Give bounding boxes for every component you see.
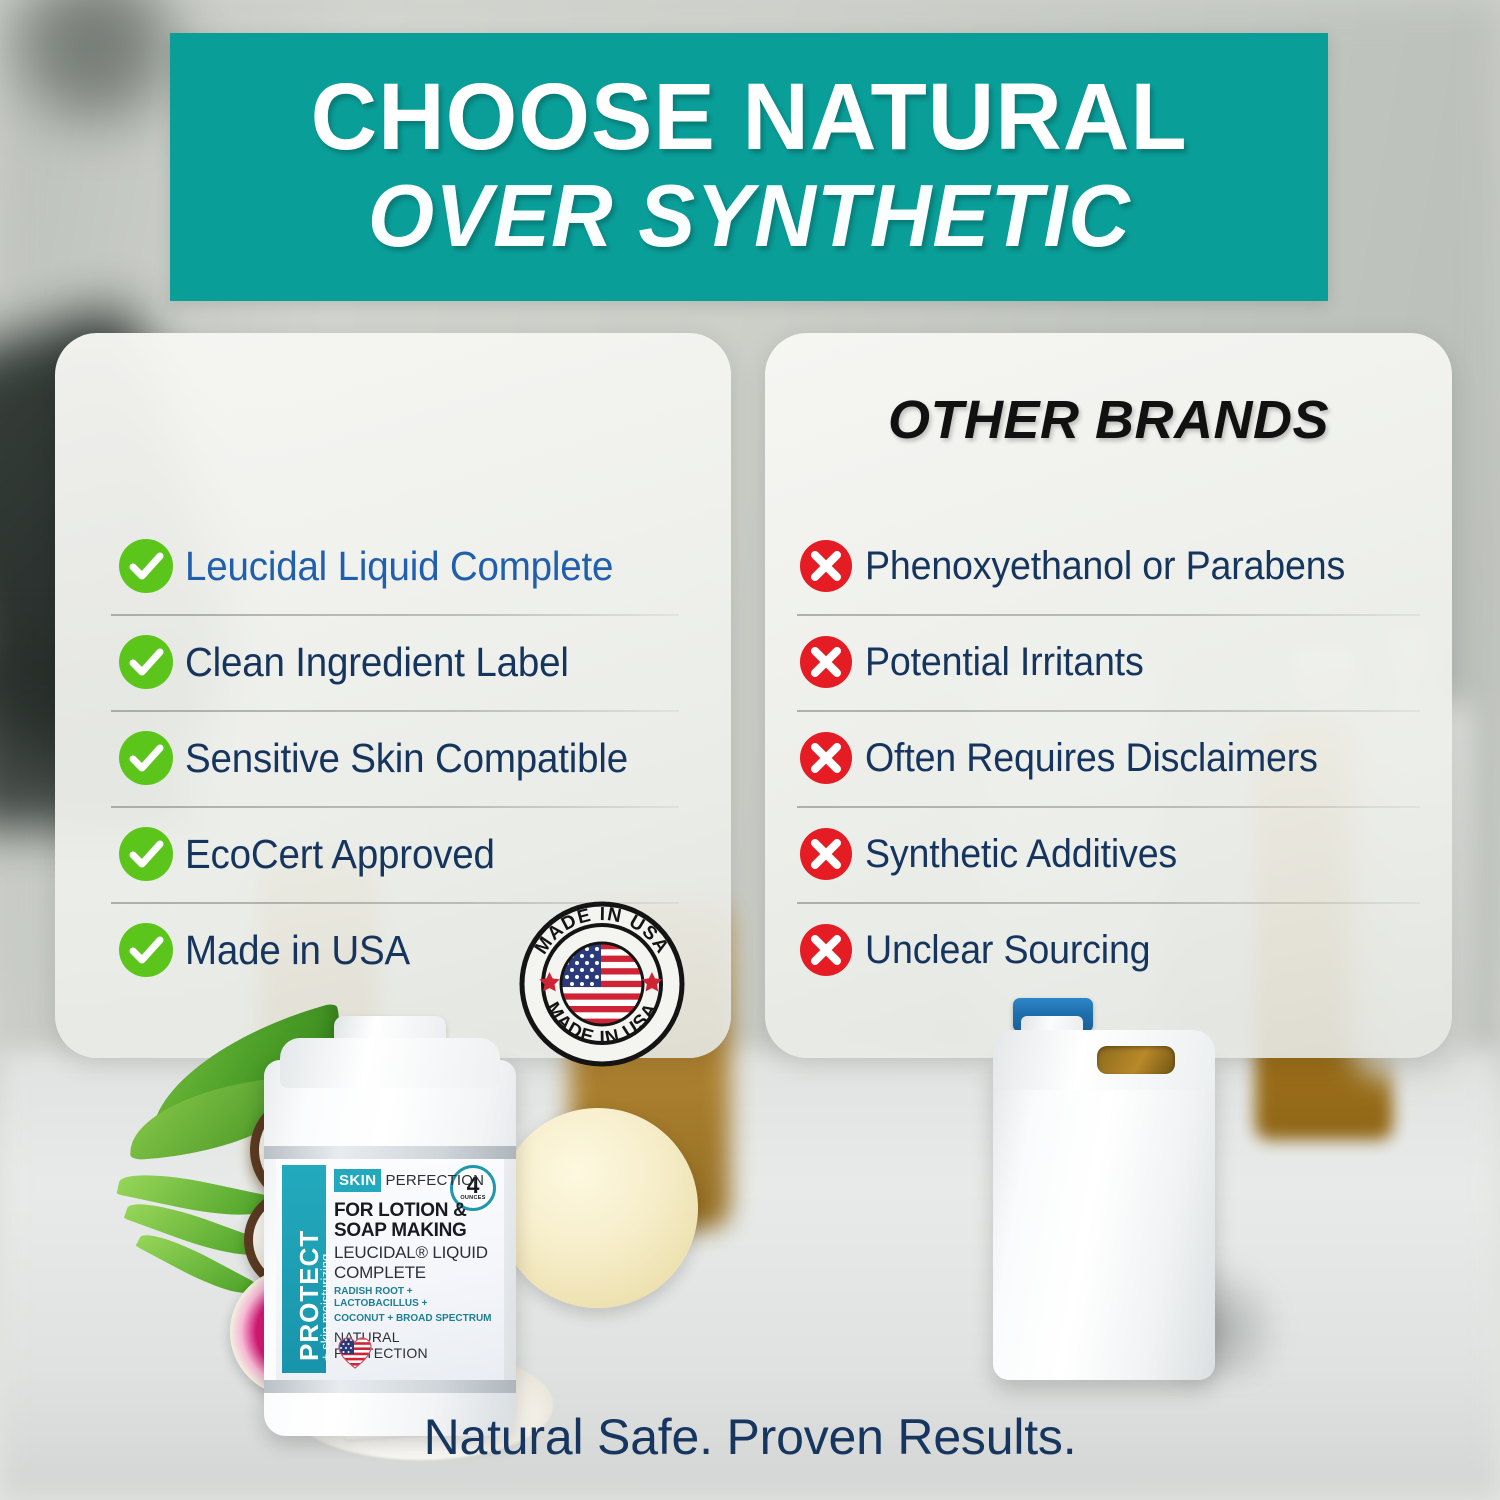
bottle-shoulder (280, 1038, 500, 1088)
list-item: Sensitive Skin Compatible (107, 710, 683, 806)
jug-body (993, 1050, 1215, 1380)
label-subline-1: LEUCIDAL® LIQUID (334, 1244, 496, 1262)
x-icon (787, 731, 865, 785)
label-headline-2: SOAP MAKING (334, 1221, 496, 1241)
list-item-label: Phenoxyethanol or Parabens (865, 544, 1345, 589)
label-headline-1: FOR LOTION & (334, 1201, 496, 1221)
x-icon (787, 923, 865, 977)
list-item: Phenoxyethanol or Parabens (787, 518, 1418, 614)
x-icon (787, 539, 865, 593)
brand-primary: SKIN (334, 1169, 381, 1192)
list-item-label: Often Requires Disclaimers (865, 736, 1318, 781)
card-title-other-brands: OTHER BRANDS (765, 389, 1452, 451)
header-title-line2: OVER SYNTHETIC (368, 170, 1131, 262)
list-item: Clean Ingredient Label (107, 614, 683, 710)
footer-tagline: Natural Safe. Proven Results. (0, 1408, 1500, 1466)
list-item: Potential Irritants (787, 614, 1418, 710)
x-icon (787, 635, 865, 689)
list-item-label: Unclear Sourcing (865, 928, 1150, 973)
list-item-label: Leucidal Liquid Complete (185, 543, 613, 590)
label-ingredients-2: COCONUT + BROAD SPECTRUM (334, 1313, 496, 1325)
check-icon (107, 922, 185, 978)
usa-flag-heart-icon (338, 1337, 372, 1369)
list-item: EcoCert Approved (107, 806, 683, 902)
check-icon (107, 538, 185, 594)
soap-bar (498, 1108, 698, 1308)
label-ingredients-1: RADISH ROOT + LACTOBACILLUS + (334, 1286, 496, 1310)
product-photo-group: PROTECT + skin moisturizing 4 OUNCES SKI… (120, 1020, 590, 1450)
list-item-label: Made in USA (185, 927, 410, 974)
list-item: Leucidal Liquid Complete (107, 518, 683, 614)
header-banner: CHOOSE NATURAL OVER SYNTHETIC (170, 33, 1328, 301)
competitor-jug (985, 1008, 1235, 1388)
list-item: Unclear Sourcing (787, 902, 1418, 998)
label-text-block: SKIN PERFECTION FOR LOTION & SOAP MAKING… (334, 1169, 496, 1361)
list-item-label: EcoCert Approved (185, 831, 495, 878)
product-bottle: PROTECT + skin moisturizing 4 OUNCES SKI… (264, 1028, 516, 1436)
bottle-band-bottom (264, 1380, 516, 1393)
comparison-card-others: OTHER BRANDS Phenoxyethanol or Parabens … (765, 333, 1452, 1058)
bottle-label: PROTECT + skin moisturizing 4 OUNCES SKI… (276, 1159, 504, 1380)
label-vertical-strip: PROTECT + skin moisturizing (282, 1165, 326, 1373)
list-item-label: Synthetic Additives (865, 832, 1177, 877)
label-vertical-sub: + skin moisturizing (318, 1254, 333, 1361)
jug-handle (1097, 1046, 1175, 1074)
check-icon (107, 730, 185, 786)
label-subline-2: COMPLETE (334, 1264, 496, 1282)
list-item-label: Sensitive Skin Compatible (185, 735, 628, 782)
brand-secondary: PERFECTION (385, 1172, 484, 1189)
drawbacks-list: Phenoxyethanol or Parabens Potential Irr… (765, 518, 1452, 998)
x-icon (787, 827, 865, 881)
check-icon (107, 634, 185, 690)
list-item: Often Requires Disclaimers (787, 710, 1418, 806)
bottle-band-top (264, 1146, 516, 1159)
header-title-line1: CHOOSE NATURAL (310, 71, 1187, 164)
list-item-label: Potential Irritants (865, 640, 1144, 685)
check-icon (107, 826, 185, 882)
list-item: Synthetic Additives (787, 806, 1418, 902)
list-item-label: Clean Ingredient Label (185, 639, 569, 686)
brand-lockup: SKIN PERFECTION (334, 1169, 496, 1192)
